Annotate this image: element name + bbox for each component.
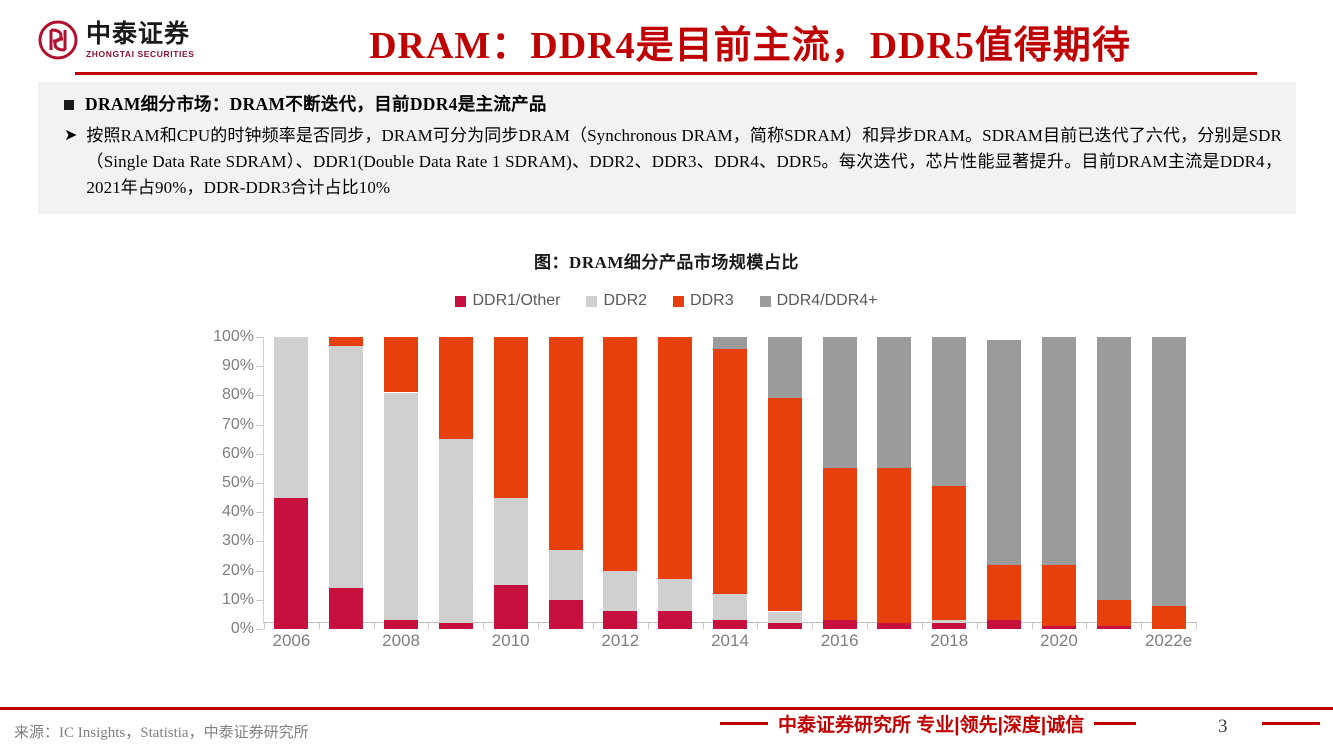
- legend-label: DDR3: [690, 292, 734, 310]
- x-axis-tick-mark: [1141, 622, 1142, 629]
- bar-segment[interactable]: [987, 565, 1021, 620]
- x-axis-tick-mark: [374, 622, 375, 629]
- y-axis-tick-mark: [256, 366, 263, 367]
- x-axis-tick-mark: [428, 622, 429, 629]
- x-axis-tick-mark: [593, 622, 594, 629]
- bar-segment[interactable]: [932, 337, 966, 486]
- slide-root: 中泰证券 ZHONGTAI SECURITIES DRAM：DDR4是目前主流，…: [0, 0, 1333, 750]
- y-axis-tick-mark: [256, 395, 263, 396]
- legend-label: DDR4/DDR4+: [777, 292, 878, 310]
- stacked-bar[interactable]: [603, 337, 637, 629]
- bar-segment[interactable]: [494, 337, 528, 498]
- x-axis-tick-mark: [812, 622, 813, 629]
- x-axis-labels: 200620082010201220142016201820202022e: [264, 631, 1196, 661]
- stacked-bar[interactable]: [1097, 337, 1131, 629]
- stacked-bar[interactable]: [439, 337, 473, 629]
- bar-segment[interactable]: [603, 337, 637, 571]
- stacked-bar[interactable]: [877, 337, 911, 629]
- bar-segment[interactable]: [932, 486, 966, 620]
- stacked-bar[interactable]: [768, 337, 802, 629]
- x-axis-tick-label: 2022e: [1145, 631, 1192, 651]
- bar-segment[interactable]: [877, 337, 911, 468]
- stacked-bar[interactable]: [494, 337, 528, 629]
- y-axis-tick-label: 80%: [222, 386, 254, 404]
- chart-legend: DDR1/OtherDDR2DDR3DDR4/DDR4+: [0, 292, 1333, 310]
- bar-segment[interactable]: [987, 340, 1021, 565]
- bar-segment[interactable]: [329, 337, 363, 346]
- x-axis-tick-label: 2008: [382, 631, 420, 651]
- bar-segment[interactable]: [494, 498, 528, 586]
- stacked-bar[interactable]: [658, 337, 692, 629]
- bar-segment[interactable]: [768, 398, 802, 611]
- bar-segment[interactable]: [823, 337, 857, 468]
- bar-segment[interactable]: [1042, 565, 1076, 626]
- legend-item-1[interactable]: DDR2: [586, 292, 647, 310]
- bar-segment[interactable]: [1097, 337, 1131, 600]
- y-axis-tick-label: 100%: [213, 328, 254, 346]
- bar-segment[interactable]: [384, 393, 418, 621]
- bar-segment[interactable]: [549, 337, 583, 550]
- x-axis-tick-mark: [1032, 622, 1033, 629]
- bar-segment[interactable]: [384, 337, 418, 392]
- x-axis-tick-mark: [922, 622, 923, 629]
- y-axis-tick-mark: [256, 571, 263, 572]
- y-axis-tick-label: 30%: [222, 532, 254, 550]
- bar-segment[interactable]: [658, 579, 692, 611]
- logo-company-name: 中泰证券: [86, 22, 195, 47]
- x-axis-tick-label: 2006: [272, 631, 310, 651]
- stacked-bar[interactable]: [987, 337, 1021, 629]
- bullet-level1: DRAM细分市场：DRAM不断迭代，目前DDR4是主流产品: [64, 93, 1282, 116]
- bar-segment[interactable]: [1152, 337, 1186, 606]
- legend-swatch-icon: [586, 296, 597, 307]
- y-axis-tick-mark: [256, 629, 263, 630]
- y-axis-tick-label: 90%: [222, 357, 254, 375]
- x-axis-tick-mark: [264, 622, 265, 629]
- bar-segment[interactable]: [439, 337, 473, 439]
- footer-brand-text: 中泰证券研究所 专业|领先|深度|诚信: [778, 710, 1084, 737]
- page-number: 3: [1218, 716, 1228, 738]
- bar-segment[interactable]: [713, 594, 747, 620]
- x-axis-tick-mark: [977, 622, 978, 629]
- stacked-bar[interactable]: [384, 337, 418, 629]
- x-axis-tick-mark: [1086, 622, 1087, 629]
- x-axis-tick-label: 2016: [821, 631, 859, 651]
- stacked-bar[interactable]: [329, 337, 363, 629]
- chart-title: 图：DRAM细分产品市场规模占比: [0, 248, 1333, 273]
- legend-label: DDR1/Other: [472, 292, 560, 310]
- chart-plot-area: 0%10%20%30%40%50%60%70%80%90%100% 200620…: [196, 330, 1196, 635]
- zhongtai-emblem-icon: [38, 20, 78, 60]
- footer-line-left: [720, 722, 768, 725]
- stacked-bar[interactable]: [932, 337, 966, 629]
- bar-series-container: [264, 330, 1196, 622]
- bar-segment[interactable]: [768, 337, 802, 398]
- y-axis-tick-label: 0%: [231, 620, 254, 638]
- legend-swatch-icon: [455, 296, 466, 307]
- y-axis-tick-mark: [256, 454, 263, 455]
- bar-segment[interactable]: [274, 337, 308, 498]
- y-axis-tick-label: 10%: [222, 591, 254, 609]
- legend-swatch-icon: [760, 296, 771, 307]
- x-axis-tick-label: 2012: [601, 631, 639, 651]
- bullet-level2: ➤ 按照RAM和CPU的时钟频率是否同步，DRAM可分为同步DRAM（Synch…: [64, 123, 1282, 200]
- arrow-bullet-icon: ➤: [64, 125, 77, 144]
- x-axis-tick-label: 2020: [1040, 631, 1078, 651]
- bar-segment[interactable]: [658, 337, 692, 579]
- footer-line-mid: [1094, 722, 1136, 725]
- company-logo: 中泰证券 ZHONGTAI SECURITIES: [38, 20, 195, 60]
- footer-brand: 中泰证券研究所 专业|领先|深度|诚信: [720, 710, 1136, 737]
- y-axis-tick-mark: [256, 541, 263, 542]
- logo-company-name-en: ZHONGTAI SECURITIES: [86, 50, 195, 59]
- x-axis-tick-mark: [483, 622, 484, 629]
- y-axis-tick-mark: [256, 337, 263, 338]
- y-axis-tick-label: 40%: [222, 503, 254, 521]
- stacked-bar[interactable]: [713, 337, 747, 629]
- bar-segment[interactable]: [439, 439, 473, 623]
- x-axis-tick-mark: [538, 622, 539, 629]
- stacked-bar[interactable]: [274, 337, 308, 629]
- bar-segment[interactable]: [274, 498, 308, 629]
- x-axis-tick-mark: [1196, 622, 1197, 629]
- bar-segment[interactable]: [713, 349, 747, 594]
- legend-item-0[interactable]: DDR1/Other: [455, 292, 560, 310]
- source-note: 来源：IC Insights，Statistia，中泰证券研究所: [14, 721, 309, 742]
- stacked-bar[interactable]: [1042, 337, 1076, 629]
- y-axis-tick-mark: [256, 483, 263, 484]
- y-axis-tick-mark: [256, 600, 263, 601]
- footer-line-right: [1262, 722, 1320, 725]
- y-axis-tick-label: 60%: [222, 445, 254, 463]
- y-axis-labels: 0%10%20%30%40%50%60%70%80%90%100%: [196, 330, 254, 622]
- y-axis-tick-label: 50%: [222, 474, 254, 492]
- x-axis-tick-label: 2010: [492, 631, 530, 651]
- stacked-bar[interactable]: [549, 337, 583, 629]
- x-axis-tick-mark: [757, 622, 758, 629]
- y-axis-tick-label: 20%: [222, 562, 254, 580]
- legend-swatch-icon: [673, 296, 684, 307]
- x-axis-ticks: [264, 622, 1196, 629]
- bar-segment[interactable]: [823, 468, 857, 620]
- bar-segment[interactable]: [1042, 337, 1076, 565]
- y-axis-tick-mark: [256, 425, 263, 426]
- bar-segment[interactable]: [329, 346, 363, 588]
- bullet-level1-text: DRAM细分市场：DRAM不断迭代，目前DDR4是主流产品: [85, 93, 547, 116]
- x-axis-tick-mark: [867, 622, 868, 629]
- slide-header: 中泰证券 ZHONGTAI SECURITIES DRAM：DDR4是目前主流，…: [0, 0, 1333, 78]
- stacked-bar[interactable]: [823, 337, 857, 629]
- x-axis-tick-mark: [648, 622, 649, 629]
- x-axis-tick-label: 2014: [711, 631, 749, 651]
- bar-segment[interactable]: [549, 550, 583, 600]
- bar-segment[interactable]: [713, 337, 747, 349]
- x-axis-tick-mark: [319, 622, 320, 629]
- legend-item-3[interactable]: DDR4/DDR4+: [760, 292, 878, 310]
- title-divider: [75, 72, 1257, 75]
- x-axis-tick-label: 2018: [930, 631, 968, 651]
- page-title: DRAM：DDR4是目前主流，DDR5值得期待: [260, 14, 1240, 69]
- bar-segment[interactable]: [877, 468, 911, 623]
- stacked-bar[interactable]: [1152, 337, 1186, 629]
- content-textbox: DRAM细分市场：DRAM不断迭代，目前DDR4是主流产品 ➤ 按照RAM和CP…: [38, 82, 1296, 214]
- legend-label: DDR2: [603, 292, 647, 310]
- square-bullet-icon: [64, 100, 74, 110]
- x-axis-tick-mark: [703, 622, 704, 629]
- bullet-level2-text: 按照RAM和CPU的时钟频率是否同步，DRAM可分为同步DRAM（Synchro…: [86, 123, 1282, 200]
- bar-segment[interactable]: [603, 571, 637, 612]
- legend-item-2[interactable]: DDR3: [673, 292, 734, 310]
- y-axis-tick-mark: [256, 512, 263, 513]
- y-axis-tick-label: 70%: [222, 416, 254, 434]
